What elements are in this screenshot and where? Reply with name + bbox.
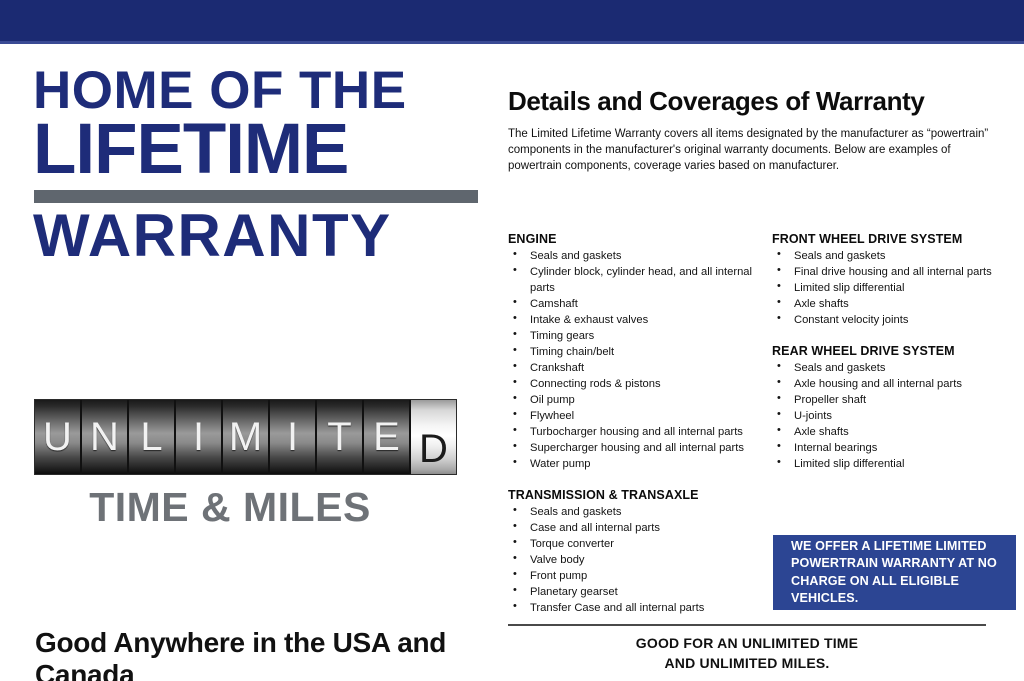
coverage-list-item: Limited slip differential [772,280,1020,296]
coverage-list-item: Final drive housing and all internal par… [772,264,1020,280]
footer-note-line-2: AND UNLIMITED MILES. [508,654,986,674]
left-panel: HOME OF THE LIFETIME WARRANTY UNLIMITED … [0,44,500,681]
coverage-column-left: ENGINE Seals and gasketsCylinder block, … [508,232,760,616]
warranty-flyer-page: HOME OF THE LIFETIME WARRANTY UNLIMITED … [0,0,1024,681]
coverage-list-item: Supercharger housing and all internal pa… [508,440,760,456]
coverage-list-item: Seals and gaskets [508,504,760,520]
section-spacer [508,472,760,488]
details-title: Details and Coverages of Warranty [508,86,924,117]
coverage-list-item: Valve body [508,552,760,568]
odometer-cell-char: M [229,417,262,457]
coverage-list-item: Timing chain/belt [508,344,760,360]
odometer-cell-char: N [90,417,119,457]
odometer-cell-char: D [419,429,448,469]
offer-callout-box: WE OFFER A LIFETIME LIMITED POWERTRAIN W… [773,535,1016,610]
odometer-graphic: UNLIMITED [35,400,456,474]
coverage-list-item: Seals and gaskets [508,248,760,264]
odometer-cell: N [82,400,129,474]
coverage-list-item: Camshaft [508,296,760,312]
coverage-list-item: Flywheel [508,408,760,424]
coverage-list-item: Crankshaft [508,360,760,376]
coverage-list-item: Propeller shaft [772,392,1020,408]
odometer-cell: U [35,400,82,474]
time-and-miles-label: TIME & MILES [35,484,425,531]
coverage-list-item: U-joints [772,408,1020,424]
odometer-cell-char: T [327,417,351,457]
footer-divider-rule [508,624,986,626]
odometer-cell: I [176,400,223,474]
coverage-list-item: Transfer Case and all internal parts [508,600,760,616]
section-list-front-wheel-drive: Seals and gasketsFinal drive housing and… [772,248,1020,328]
section-heading-engine: ENGINE [508,232,760,246]
coverage-list-item: Axle shafts [772,296,1020,312]
odometer-cell: D [411,400,456,474]
coverage-list-item: Case and all internal parts [508,520,760,536]
coverage-column-right: FRONT WHEEL DRIVE SYSTEM Seals and gaske… [772,232,1020,472]
coverage-list-item: Water pump [508,456,760,472]
coverage-list-item: Turbocharger housing and all internal pa… [508,424,760,440]
section-heading-front-wheel-drive: FRONT WHEEL DRIVE SYSTEM [772,232,1020,246]
section-heading-rear-wheel-drive: REAR WHEEL DRIVE SYSTEM [772,344,1020,358]
headline-block: HOME OF THE LIFETIME WARRANTY [33,66,483,264]
intro-paragraph: The Limited Lifetime Warranty covers all… [508,127,994,174]
section-spacer [772,328,1020,344]
top-brand-bar [0,0,1024,41]
coverage-list-item: Intake & exhaust valves [508,312,760,328]
odometer-cell: E [364,400,411,474]
coverage-list-item: Front pump [508,568,760,584]
coverage-list-item: Axle shafts [772,424,1020,440]
coverage-list-item: Timing gears [508,328,760,344]
odometer-cell: M [223,400,270,474]
odometer-cell-char: U [43,417,72,457]
section-list-transmission: Seals and gasketsCase and all internal p… [508,504,760,616]
odometer-cell: I [270,400,317,474]
coverage-list-item: Limited slip differential [772,456,1020,472]
odometer-cell-char: I [193,417,204,457]
footer-note: GOOD FOR AN UNLIMITED TIME AND UNLIMITED… [508,634,986,674]
coverage-list-item: Seals and gaskets [772,248,1020,264]
coverage-list-item: Cylinder block, cylinder head, and all i… [508,264,760,296]
offer-callout-text: WE OFFER A LIFETIME LIMITED POWERTRAIN W… [773,538,1016,608]
odometer-cell-char: E [373,417,400,457]
odometer-cell: T [317,400,364,474]
coverage-list-item: Planetary gearset [508,584,760,600]
right-panel: Details and Coverages of Warranty The Li… [500,44,1024,681]
headline-line-2: LIFETIME [33,117,483,183]
coverage-list-item: Oil pump [508,392,760,408]
section-list-rear-wheel-drive: Seals and gasketsAxle housing and all in… [772,360,1020,472]
footer-note-line-1: GOOD FOR AN UNLIMITED TIME [508,634,986,654]
coverage-list-item: Connecting rods & pistons [508,376,760,392]
odometer-cell-char: L [140,417,162,457]
coverage-list-item: Constant velocity joints [772,312,1020,328]
coverage-list-item: Seals and gaskets [772,360,1020,376]
coverage-list-item: Axle housing and all internal parts [772,376,1020,392]
coverage-list-item: Internal bearings [772,440,1020,456]
section-heading-transmission: TRANSMISSION & TRANSAXLE [508,488,760,502]
section-list-engine: Seals and gasketsCylinder block, cylinde… [508,248,760,472]
headline-line-1: HOME OF THE [33,66,483,115]
odometer-cell-char: I [287,417,298,457]
coverage-list-item: Torque converter [508,536,760,552]
headline-line-3: WARRANTY [33,208,483,264]
good-anywhere-tagline: Good Anywhere in the USA and Canada [35,627,500,681]
odometer-cell: L [129,400,176,474]
